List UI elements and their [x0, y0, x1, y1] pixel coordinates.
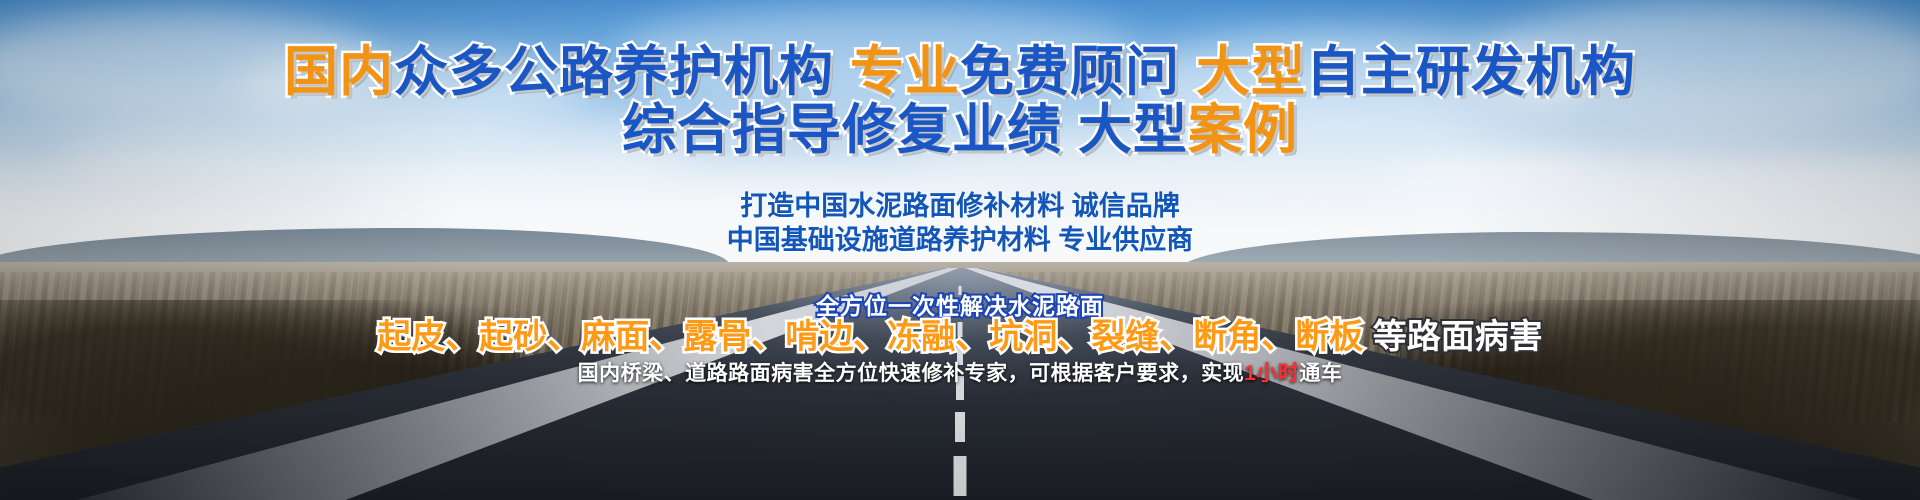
closing-claim-tail: 通车 [1299, 362, 1342, 385]
headline1-seg-4: 免费顾问 [960, 42, 1180, 102]
headline1-seg-3: 专业 [850, 42, 960, 102]
headline1-seg-1: 国内 [284, 42, 394, 102]
closing-claim-highlight: 1小时 [1244, 362, 1299, 385]
subtitle-line-2: 中国基础设施道路养护材料 专业供应商 [0, 222, 1920, 258]
headline-secondary: 综合指导修复业绩 大型案例 [0, 100, 1920, 160]
headline1-gap-2 [1180, 42, 1196, 102]
headline2-seg-1: 综合指导修复业绩 [622, 100, 1062, 160]
headline1-gap-1 [834, 42, 850, 102]
headline2-seg-3: 案例 [1188, 100, 1298, 160]
damage-list-items: 起皮、起砂、麻面、露骨、啃边、冻融、坑洞、裂缝、断角、断板 [377, 318, 1363, 356]
closing-claim-row: 国内桥梁、道路路面病害全方位快速修补专家，可根据客户要求，实现1小时通车 [0, 360, 1920, 388]
headline1-seg-6: 自主研发机构 [1306, 42, 1636, 102]
subtitle-line-1: 打造中国水泥路面修补材料 诚信品牌 [0, 188, 1920, 224]
headline2-seg-2: 大型 [1078, 100, 1188, 160]
headline2-gap-1 [1062, 100, 1078, 160]
damage-list-suffix: 等路面病害 [1363, 318, 1542, 356]
headline-primary: 国内众多公路养护机构 专业免费顾问 大型自主研发机构 [0, 42, 1920, 102]
promo-banner: 国内众多公路养护机构 专业免费顾问 大型自主研发机构 综合指导修复业绩 大型案例… [0, 0, 1920, 500]
closing-claim-text: 国内桥梁、道路路面病害全方位快速修补专家，可根据客户要求，实现 [578, 362, 1245, 385]
damage-type-list: 起皮、起砂、麻面、露骨、啃边、冻融、坑洞、裂缝、断角、断板 等路面病害 [0, 316, 1920, 358]
headline1-seg-2: 众多公路养护机构 [394, 42, 834, 102]
headline1-seg-5: 大型 [1196, 42, 1306, 102]
